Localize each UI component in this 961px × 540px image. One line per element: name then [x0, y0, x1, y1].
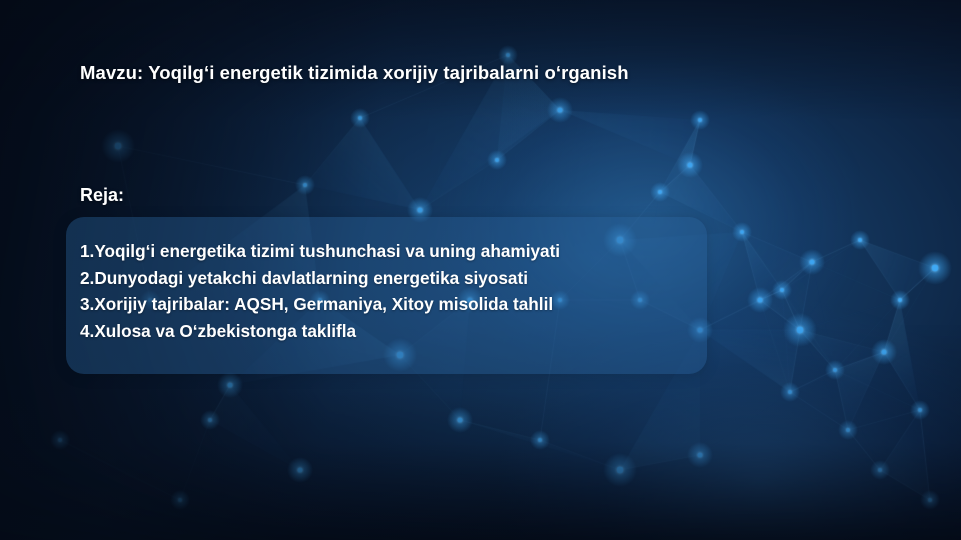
slide-title: Mavzu: Yoqilg‘i energetik tizimida xorij…: [80, 62, 629, 84]
list-item: 2.Dunyodagi yetakchi davlatlarning energ…: [80, 265, 700, 292]
slide-canvas: Mavzu: Yoqilg‘i energetik tizimida xorij…: [0, 0, 961, 540]
list-item: 3.Xorijiy tajribalar: AQSH, Germaniya, X…: [80, 291, 700, 318]
plan-list: 1.Yoqilg‘i energetika tizimi tushunchasi…: [80, 238, 700, 344]
list-item: 1.Yoqilg‘i energetika tizimi tushunchasi…: [80, 238, 700, 265]
plan-label: Reja:: [80, 185, 124, 206]
list-item: 4.Xulosa va O‘zbekistonga taklifla: [80, 318, 700, 345]
